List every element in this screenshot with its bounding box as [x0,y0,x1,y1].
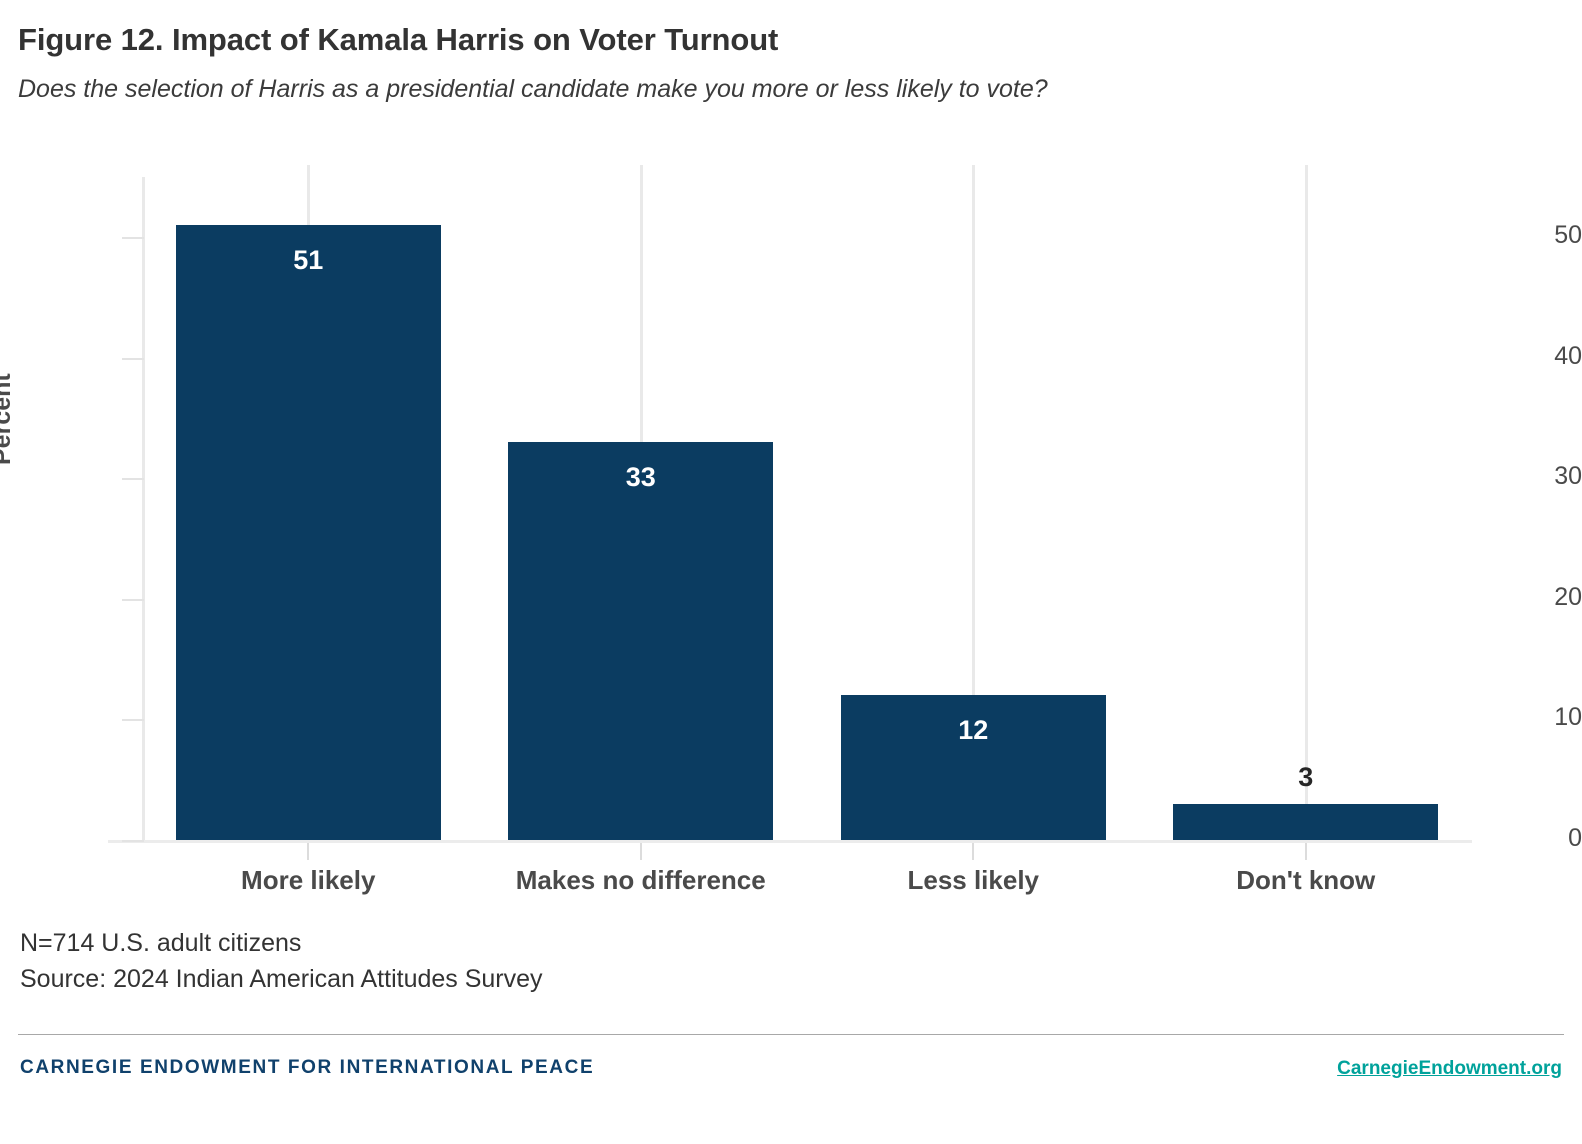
bar-more-likely[interactable] [176,225,441,840]
sample-size-note: N=714 U.S. adult citizens [20,925,543,961]
y-tick-mark [122,719,144,721]
page-title: Figure 12. Impact of Kamala Harris on Vo… [18,22,1558,58]
x-tick-label: Less likely [907,865,1039,896]
figure-header: Figure 12. Impact of Kamala Harris on Vo… [18,22,1558,104]
y-tick-mark [122,599,144,601]
y-axis-title: Percent [0,373,17,465]
x-axis-baseline [108,840,1472,843]
y-tick-label: 20 [1482,583,1582,612]
x-tick-label: More likely [241,865,375,896]
gridline-vertical [1305,165,1308,828]
y-tick-mark [122,358,144,360]
bar-don-t-know[interactable] [1173,804,1438,840]
y-tick-label: 10 [1482,703,1582,732]
bar-value-label: 51 [176,245,441,276]
chart-notes: N=714 U.S. adult citizens Source: 2024 I… [20,925,543,998]
y-tick-label: 30 [1482,462,1582,491]
x-tick-label: Don't know [1236,865,1375,896]
y-tick-mark [122,840,144,842]
y-tick-mark [122,478,144,480]
y-tick-label: 0 [1482,824,1582,853]
bar-value-label: 12 [841,715,1106,746]
source-note: Source: 2024 Indian American Attitudes S… [20,961,543,997]
bar-value-label: 3 [1173,762,1438,793]
website-link[interactable]: CarnegieEndowment.org [1337,1058,1562,1080]
x-tick-mark [972,843,974,860]
x-tick-mark [307,843,309,860]
footer-divider [18,1034,1564,1035]
bar-value-label: 33 [508,462,773,493]
bar-chart: Percent 01020304050 5133123 More likelyM… [0,165,1582,895]
figure-subtitle: Does the selection of Harris as a presid… [18,74,1558,104]
y-tick-mark [122,237,144,239]
y-tick-label: 40 [1482,342,1582,371]
x-tick-mark [1305,843,1307,860]
x-tick-label: Makes no difference [516,865,766,896]
x-tick-mark [640,843,642,860]
organization-name: CARNEGIE ENDOWMENT FOR INTERNATIONAL PEA… [20,1057,594,1079]
bar-makes-no-difference[interactable] [508,442,773,840]
y-axis-spine [142,177,145,840]
y-tick-label: 50 [1482,221,1582,250]
